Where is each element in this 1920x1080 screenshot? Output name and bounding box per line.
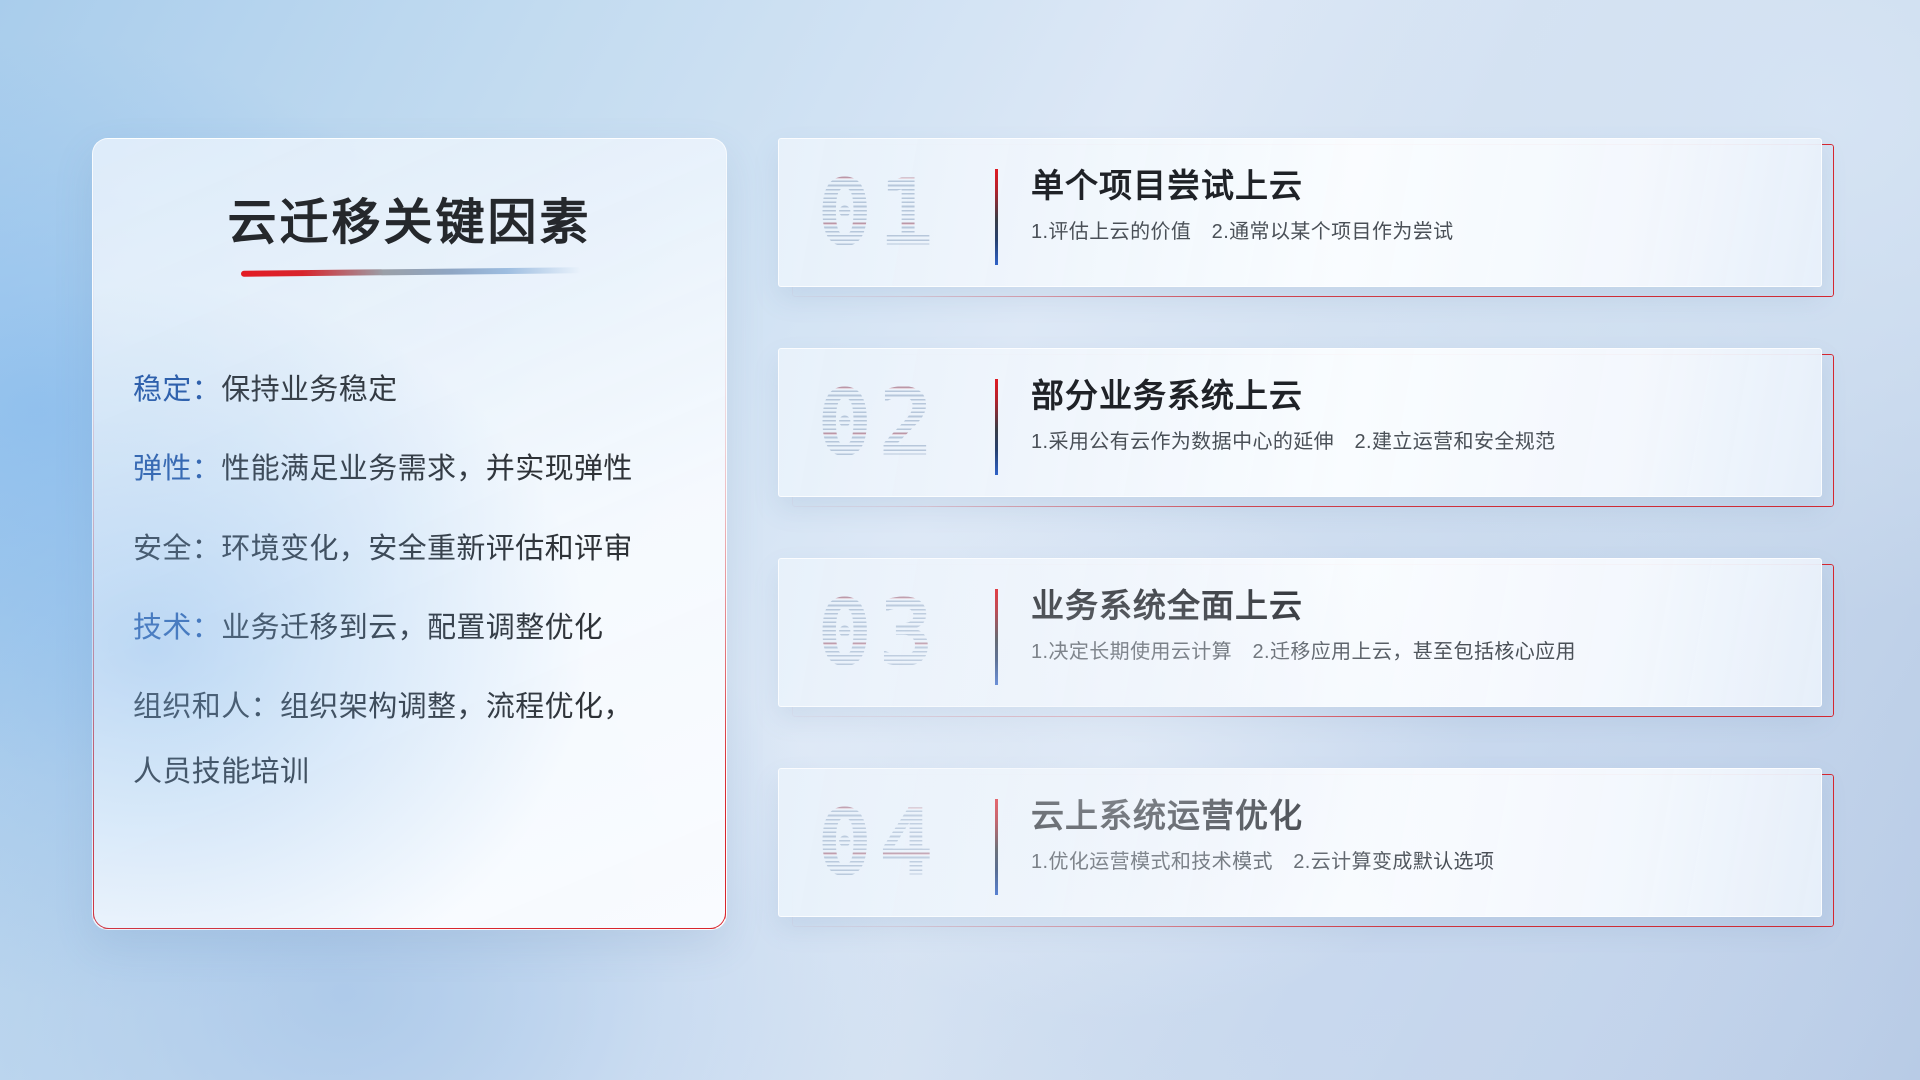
stage-card-03[interactable]: 03 03 业务系统全面上云 1.决定长期使用云计算 2.迁移应用上云，甚至包括… [778,558,1834,713]
list-item: 安全：环境变化，安全重新评估和评审 [133,530,700,568]
bullet-text: 环境变化，安全重新评估和评审 [221,533,633,565]
page-title: 云迁移关键因素 [93,183,726,254]
bullet-text: 业务迁移到云，配置调整优化 [221,612,603,644]
key-factors-list: 稳定：保持业务稳定 弹性：性能满足业务需求，并实现弹性 安全：环境变化，安全重新… [133,371,700,830]
list-item: 稳定：保持业务稳定 [133,371,700,409]
bullet-text: 性能满足业务需求，并实现弹性 [221,453,633,485]
stage-subtitle: 1.优化运营模式和技术模式 2.云计算变成默认选项 [1031,849,1793,875]
stage-card-04[interactable]: 04 04 云上系统运营优化 1.优化运营模式和技术模式 2.云计算变成默认选项 [778,768,1834,923]
stage-number-watermark-accent: 01 [817,159,940,266]
list-item-continuation: 人员技能培训 [133,748,700,790]
list-item: 技术：业务迁移到云，配置调整优化 [133,609,700,647]
stage-divider-bar [995,169,998,265]
stage-divider-bar [995,799,998,895]
bullet-text: 组织架构调整，流程优化， [280,691,633,723]
list-item: 弹性：性能满足业务需求，并实现弹性 [133,450,700,488]
bullet-label: 组织和人： [133,691,280,723]
stage-title: 部分业务系统上云 [1031,375,1793,416]
stage-subtitle: 1.决定长期使用云计算 2.迁移应用上云，甚至包括核心应用 [1031,639,1793,665]
bullet-label: 技术： [133,612,221,644]
stage-title: 云上系统运营优化 [1031,795,1793,836]
bullet-label: 稳定： [133,374,221,406]
stage-divider-bar [995,589,998,685]
card-body: 01 01 单个项目尝试上云 1.评估上云的价值 2.通常以某个项目作为尝试 [778,138,1822,287]
stage-text-block: 业务系统全面上云 1.决定长期使用云计算 2.迁移应用上云，甚至包括核心应用 [1031,585,1793,665]
stage-subtitle: 1.评估上云的价值 2.通常以某个项目作为尝试 [1031,219,1793,245]
stage-title: 单个项目尝试上云 [1031,165,1793,206]
stage-number-watermark-accent: 04 [817,789,940,896]
stage-card-02[interactable]: 02 02 部分业务系统上云 1.采用公有云作为数据中心的延伸 2.建立运营和安… [778,348,1834,503]
stage-subtitle: 1.采用公有云作为数据中心的延伸 2.建立运营和安全规范 [1031,429,1793,455]
key-factors-panel: 云迁移关键因素 稳定：保持业务稳定 弹性：性能满足业务需求，并实现弹性 安全：环… [92,138,727,930]
stage-number-watermark-accent: 02 [817,369,940,476]
bullet-label: 安全： [133,533,221,565]
slide-canvas: 云迁移关键因素 稳定：保持业务稳定 弹性：性能满足业务需求，并实现弹性 安全：环… [0,0,1920,1080]
card-body: 02 02 部分业务系统上云 1.采用公有云作为数据中心的延伸 2.建立运营和安… [778,348,1822,497]
stage-title: 业务系统全面上云 [1031,585,1793,626]
bullet-text: 保持业务稳定 [221,374,397,406]
title-underline-gradient [241,267,581,277]
stage-divider-bar [995,379,998,475]
stage-card-01[interactable]: 01 01 单个项目尝试上云 1.评估上云的价值 2.通常以某个项目作为尝试 [778,138,1834,293]
list-item: 组织和人：组织架构调整，流程优化， [133,688,700,726]
stage-number-watermark-accent: 03 [817,579,940,686]
card-body: 04 04 云上系统运营优化 1.优化运营模式和技术模式 2.云计算变成默认选项 [778,768,1822,917]
bullet-label: 弹性： [133,453,221,485]
migration-stages-list: 01 01 单个项目尝试上云 1.评估上云的价值 2.通常以某个项目作为尝试 0… [778,138,1834,978]
stage-text-block: 单个项目尝试上云 1.评估上云的价值 2.通常以某个项目作为尝试 [1031,165,1793,245]
card-body: 03 03 业务系统全面上云 1.决定长期使用云计算 2.迁移应用上云，甚至包括… [778,558,1822,707]
stage-text-block: 云上系统运营优化 1.优化运营模式和技术模式 2.云计算变成默认选项 [1031,795,1793,875]
stage-text-block: 部分业务系统上云 1.采用公有云作为数据中心的延伸 2.建立运营和安全规范 [1031,375,1793,455]
